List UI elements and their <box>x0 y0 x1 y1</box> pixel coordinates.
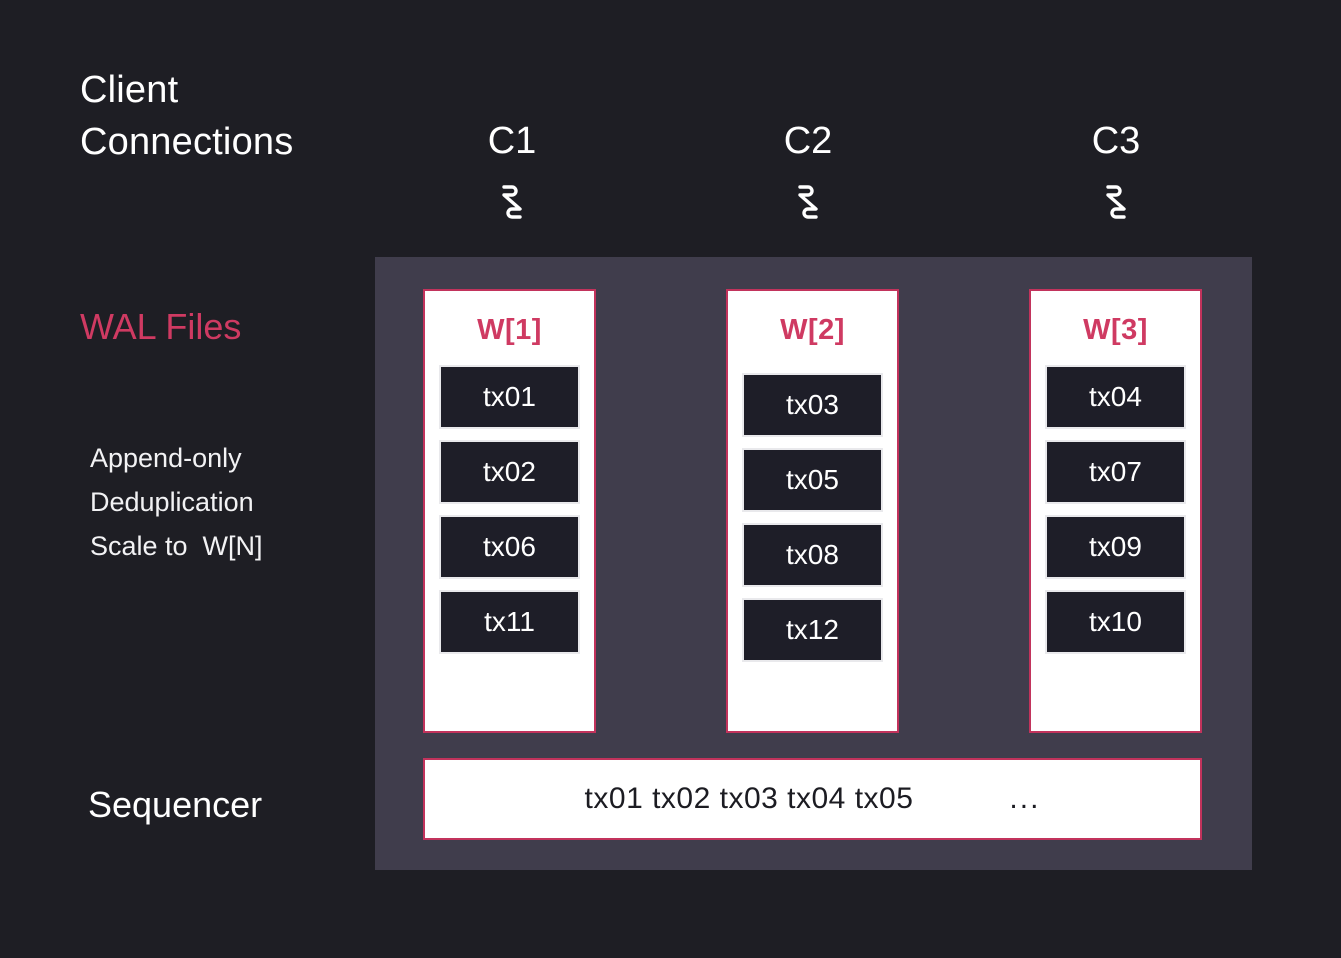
transaction-box[interactable]: tx04 <box>1045 365 1186 429</box>
page-title: Client Connections <box>80 64 293 168</box>
transaction-list: tx01 tx02 tx06 tx11 <box>425 365 594 654</box>
transaction-box[interactable]: tx09 <box>1045 515 1186 579</box>
wal-files-label: WAL Files <box>80 304 241 350</box>
sequencer-bar[interactable]: tx01 tx02 tx03 tx04 tx05 ... <box>423 758 1202 840</box>
wal-properties-list: Append-only Deduplication Scale to W[N] <box>90 436 263 568</box>
transaction-box[interactable]: tx08 <box>742 523 883 587</box>
wal-card-w3[interactable]: W[3] tx04 tx07 tx09 tx10 <box>1029 289 1202 733</box>
wal-card-header: W[2] <box>728 313 897 347</box>
wal-card-w2[interactable]: W[2] tx03 tx05 tx08 tx12 <box>726 289 899 733</box>
wal-property-append-only: Append-only <box>90 436 263 480</box>
transaction-list: tx03 tx05 tx08 tx12 <box>728 373 897 662</box>
transaction-box[interactable]: tx06 <box>439 515 580 579</box>
client-connection-c1: C1 <box>452 118 572 236</box>
client-connection-c2: C2 <box>748 118 868 236</box>
diagram-canvas: Client Connections WAL Files Append-only… <box>0 0 1341 958</box>
transaction-box[interactable]: tx11 <box>439 590 580 654</box>
transaction-box[interactable]: tx02 <box>439 440 580 504</box>
client-label-c2: C2 <box>748 118 868 164</box>
sequencer-label: Sequencer <box>88 782 262 828</box>
zigzag-connector-icon <box>791 182 825 236</box>
transaction-box[interactable]: tx07 <box>1045 440 1186 504</box>
transaction-box[interactable]: tx03 <box>742 373 883 437</box>
transaction-box[interactable]: tx12 <box>742 598 883 662</box>
wal-property-deduplication: Deduplication <box>90 480 263 524</box>
transaction-list: tx04 tx07 tx09 tx10 <box>1031 365 1200 654</box>
zigzag-connector-icon <box>1099 182 1133 236</box>
client-connection-c3: C3 <box>1056 118 1176 236</box>
wal-panel: W[1] tx01 tx02 tx06 tx11 W[2] tx03 tx05 … <box>375 257 1252 870</box>
wal-property-scale: Scale to W[N] <box>90 524 263 568</box>
wal-card-header: W[1] <box>425 313 594 347</box>
transaction-box[interactable]: tx10 <box>1045 590 1186 654</box>
transaction-box[interactable]: tx01 <box>439 365 580 429</box>
transaction-box[interactable]: tx05 <box>742 448 883 512</box>
sequencer-items: tx01 tx02 tx03 tx04 tx05 <box>585 782 914 816</box>
sequencer-ellipsis: ... <box>1009 782 1040 816</box>
zigzag-connector-icon <box>495 182 529 236</box>
client-label-c3: C3 <box>1056 118 1176 164</box>
wal-card-w1[interactable]: W[1] tx01 tx02 tx06 tx11 <box>423 289 596 733</box>
wal-card-header: W[3] <box>1031 313 1200 347</box>
client-label-c1: C1 <box>452 118 572 164</box>
